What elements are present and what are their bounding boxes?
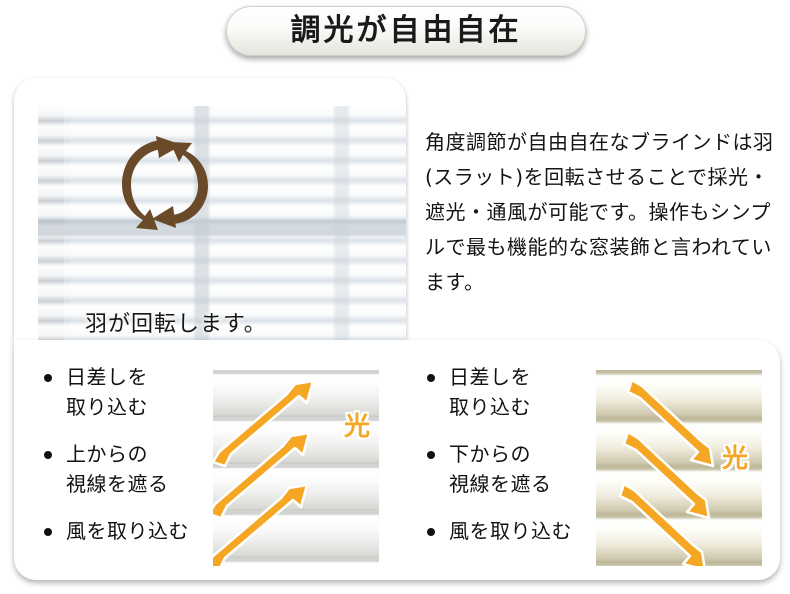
list-item: 日差しを 取り込む: [42, 362, 214, 422]
blind-photo: 羽が回転します。: [38, 106, 406, 340]
blind-diagram-down: 光: [596, 370, 762, 566]
features-panel: 日差しを 取り込む 上からの 視線を遮る 風を取り込む: [14, 340, 780, 580]
bullet-text: 下からの 視線を遮る: [449, 442, 552, 496]
bullet-text: 日差しを 取り込む: [66, 365, 148, 419]
bullet-text: 風を取り込む: [66, 519, 189, 543]
list-item: 上からの 視線を遮る: [42, 439, 214, 499]
feature-bullet-list-left: 日差しを 取り込む 上からの 視線を遮る 風を取り込む: [42, 362, 214, 546]
photo-caption: 羽が回転します。: [85, 306, 267, 338]
bullet-text: 風を取り込む: [449, 519, 572, 543]
feature-bullet-list-right: 日差しを 取り込む 下からの 視線を遮る 風を取り込む: [425, 362, 597, 546]
bullet-text: 日差しを 取り込む: [449, 365, 531, 419]
light-label-left: 光: [344, 414, 370, 440]
feature-group-slats-up: 日差しを 取り込む 上からの 視線を遮る 風を取り込む: [14, 340, 397, 580]
blind-photo-panel: 羽が回転します。: [14, 78, 406, 340]
list-item: 風を取り込む: [425, 516, 597, 546]
light-label-right: 光: [722, 446, 748, 472]
list-item: 下からの 視線を遮る: [425, 439, 597, 499]
description-text: 角度調節が自由自在なブラインドは羽(スラット)を回転させることで採光・遮光・通風…: [425, 125, 775, 300]
page-title-badge: 調光が自由自在: [226, 6, 586, 56]
blind-diagram-up: 光: [213, 370, 379, 566]
window-blind-image: [38, 106, 406, 340]
feature-group-slats-down: 日差しを 取り込む 下からの 視線を遮る 風を取り込む: [397, 340, 780, 580]
blind-slats-grey: [213, 370, 379, 566]
bullet-text: 上からの 視線を遮る: [66, 442, 169, 496]
page-title: 調光が自由自在: [291, 16, 522, 46]
list-item: 日差しを 取り込む: [425, 362, 597, 422]
list-item: 風を取り込む: [42, 516, 214, 546]
description-block: 角度調節が自由自在なブラインドは羽(スラット)を回転させることで採光・遮光・通風…: [425, 125, 775, 300]
rotation-arrows-icon: [110, 126, 220, 241]
